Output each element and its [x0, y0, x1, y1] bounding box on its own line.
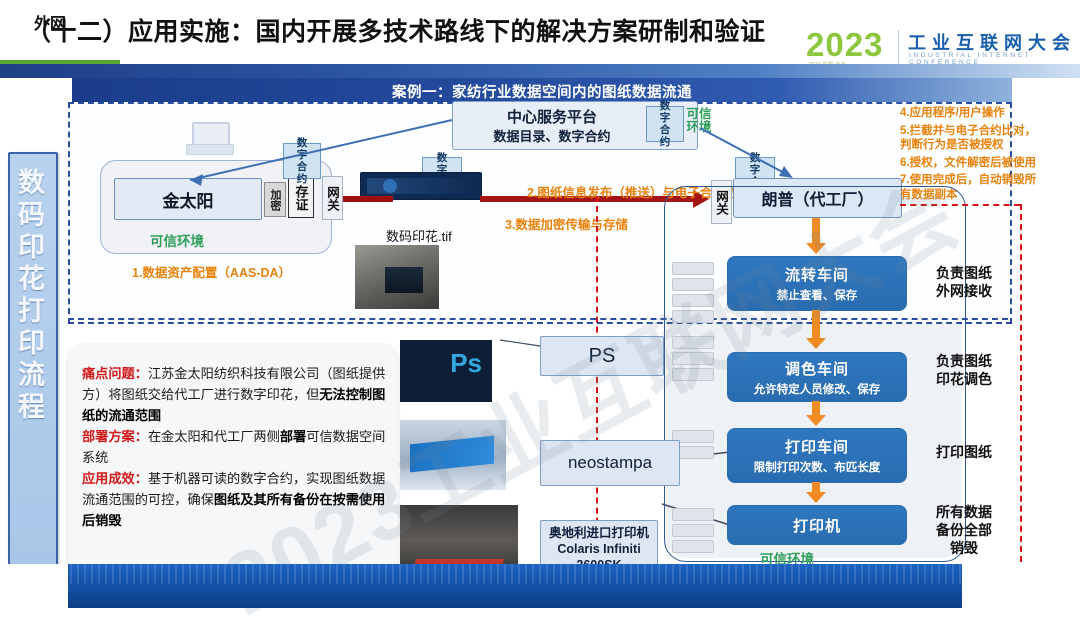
platform-trusted-env-label: 可信环境 — [686, 108, 716, 134]
narrative-effect: 应用成效：基于机器可读的数字合约，实现图纸数据流通范围的可控，确保图纸及其所有备… — [82, 469, 388, 532]
note-tiaose-l2: 印花调色 — [918, 370, 1010, 388]
red-boundary-top — [900, 204, 1020, 206]
flow-arrow-head-1 — [806, 243, 826, 254]
step-6-label: 6.授权，文件解密后被使用 — [900, 156, 1040, 171]
note-tiaose: 负责图纸 印花调色 — [918, 352, 1010, 388]
gateway-left-label: 网关 — [323, 186, 342, 211]
red-boundary-right — [1020, 204, 1022, 572]
note-liuzhuan: 负责图纸 外网接收 — [918, 264, 1010, 300]
note-dayin-l1: 打印图纸 — [918, 443, 1010, 461]
desktop-computer-icon — [186, 122, 232, 156]
narrative-deploy: 部署方案：在金太阳和代工厂两侧部署可信数据空间系统 — [82, 427, 388, 469]
workshop-title-3: 打印车间 — [785, 436, 849, 457]
server-stack-icon-4 — [672, 508, 714, 556]
pain-label: 痛点问题： — [82, 367, 148, 382]
deploy-bold: 部署 — [280, 430, 306, 445]
transfer-arrow-segment-1 — [343, 196, 393, 202]
flow-arrow-head-2 — [806, 338, 826, 349]
workshop-box-dayin: 打印车间 限制打印次数、布匹长度 — [727, 428, 907, 483]
case-banner: 案例一：家纺行业数据空间内的图纸数据流通 — [72, 78, 1012, 102]
slide-root: （十二）应用实施：国内开展多技术路线下的解决方案研制和验证 2023 2023 … — [0, 0, 1080, 608]
workshop-box-tiaose: 调色车间 允许特定人员修改、保存 — [727, 352, 907, 402]
workshop-title-2: 调色车间 — [785, 358, 849, 379]
platform-title: 中心服务平台 — [453, 106, 651, 127]
platform-trusted-env-text: 可信环境 — [686, 108, 712, 134]
note-liuzhuan-l2: 外网接收 — [918, 282, 1010, 300]
workshop-rule-1: 禁止查看、保存 — [777, 287, 858, 303]
sidebar-process-label: 数码印花打印流程 — [8, 152, 58, 568]
footer-city-band — [0, 564, 1080, 608]
workshop-box-liuzhuan: 流转车间 禁止查看、保存 — [727, 256, 907, 311]
flow-arrow-3 — [812, 401, 820, 416]
case-banner-text: 案例一：家纺行业数据空间内的图纸数据流通 — [72, 81, 1012, 102]
digital-contract-tag-left: 数字合约 — [283, 143, 321, 179]
narrative-pain: 痛点问题：江苏金太阳纺织科技有限公司（图纸提供方）将图纸交给代工厂进行数字印花，… — [82, 364, 388, 427]
flow-arrow-head-3 — [806, 415, 826, 426]
narrative-card: 痛点问题：江苏金太阳纺织科技有限公司（图纸提供方）将图纸交给代工厂进行数字印花，… — [68, 344, 398, 576]
gateway-left-badge: 网关 — [322, 176, 343, 220]
note-printer-l3: 销毁 — [918, 539, 1010, 557]
deploy-label: 部署方案： — [82, 430, 148, 445]
footer-white-patch-right — [962, 564, 1080, 608]
effect-label: 应用成效： — [82, 472, 148, 487]
workshop-box-printer: 打印机 — [727, 505, 907, 545]
flow-arrow-1 — [812, 218, 820, 244]
workshop-title-1: 流转车间 — [785, 264, 849, 285]
footer-white-patch-left — [0, 564, 68, 608]
note-dayin: 打印图纸 — [918, 443, 1010, 461]
workshop-title-4: 打印机 — [793, 515, 841, 536]
company-jintaiyang-box: 金太阳 — [114, 178, 262, 220]
photo-photoshop-logo — [400, 340, 492, 402]
flow-arrow-2 — [812, 310, 820, 338]
title-bar: （十二）应用实施：国内开展多技术路线下的解决方案研制和验证 2023 2023 … — [0, 0, 1080, 60]
step-3-label: 3.数据加密传输与存储 — [505, 214, 628, 233]
workshop-rule-2: 允许特定人员修改、保存 — [754, 381, 881, 397]
step-4-label: 4.应用程序/用户操作 — [900, 106, 1040, 121]
step-1-label: 1.数据资产配置（AAS-DA） — [132, 262, 291, 281]
blue-zone-separator — [68, 318, 1008, 320]
deploy-text-1: 在金太阳和代工厂两侧 — [148, 430, 280, 445]
encrypt-label: 加密 — [269, 189, 281, 211]
note-printer-l2: 备份全部 — [918, 521, 1010, 539]
digital-contract-tag-left-text: 数字合约 — [292, 137, 312, 185]
server-stack-icon-2 — [672, 336, 714, 384]
note-tiaose-l1: 负责图纸 — [918, 352, 1010, 370]
sidebar-label-text: 数码印花打印流程 — [17, 168, 49, 424]
platform-subtitle: 数据目录、数字合约 — [453, 126, 651, 145]
left-trusted-env-label: 可信环境 — [150, 230, 204, 250]
conference-year: 2023 — [806, 28, 883, 62]
note-printer-l1: 所有数据 — [918, 503, 1010, 521]
photo-neostampa-box — [400, 420, 506, 490]
digital-contract-tag-platform-text: 数字合约 — [655, 100, 675, 148]
software-box-ps: PS — [540, 336, 664, 376]
encrypt-badge: 加密 — [264, 182, 286, 217]
file-name-label: 数码印花.tif — [386, 226, 452, 245]
note-liuzhuan-l1: 负责图纸 — [918, 264, 1010, 282]
digital-contract-tag-platform: 数字合约 — [646, 106, 684, 142]
flow-arrow-head-4 — [806, 492, 826, 503]
title-rule-blue — [0, 64, 1080, 78]
workshop-rule-3: 限制打印次数、布匹长度 — [754, 459, 881, 475]
photo-workstation — [355, 245, 439, 309]
server-stack-icon-1 — [672, 262, 714, 326]
page-title: （十二）应用实施：国内开展多技术路线下的解决方案研制和验证 — [26, 12, 766, 48]
software-box-neostampa: neostampa — [540, 440, 680, 486]
outer-network-label: 外网 — [34, 10, 66, 34]
evidence-label: 存证 — [292, 185, 311, 211]
step-5-label: 5.拦截并与电子合约比对，判断行为是否被授权 — [900, 124, 1040, 153]
note-printer: 所有数据 备份全部 销毁 — [918, 503, 1010, 557]
